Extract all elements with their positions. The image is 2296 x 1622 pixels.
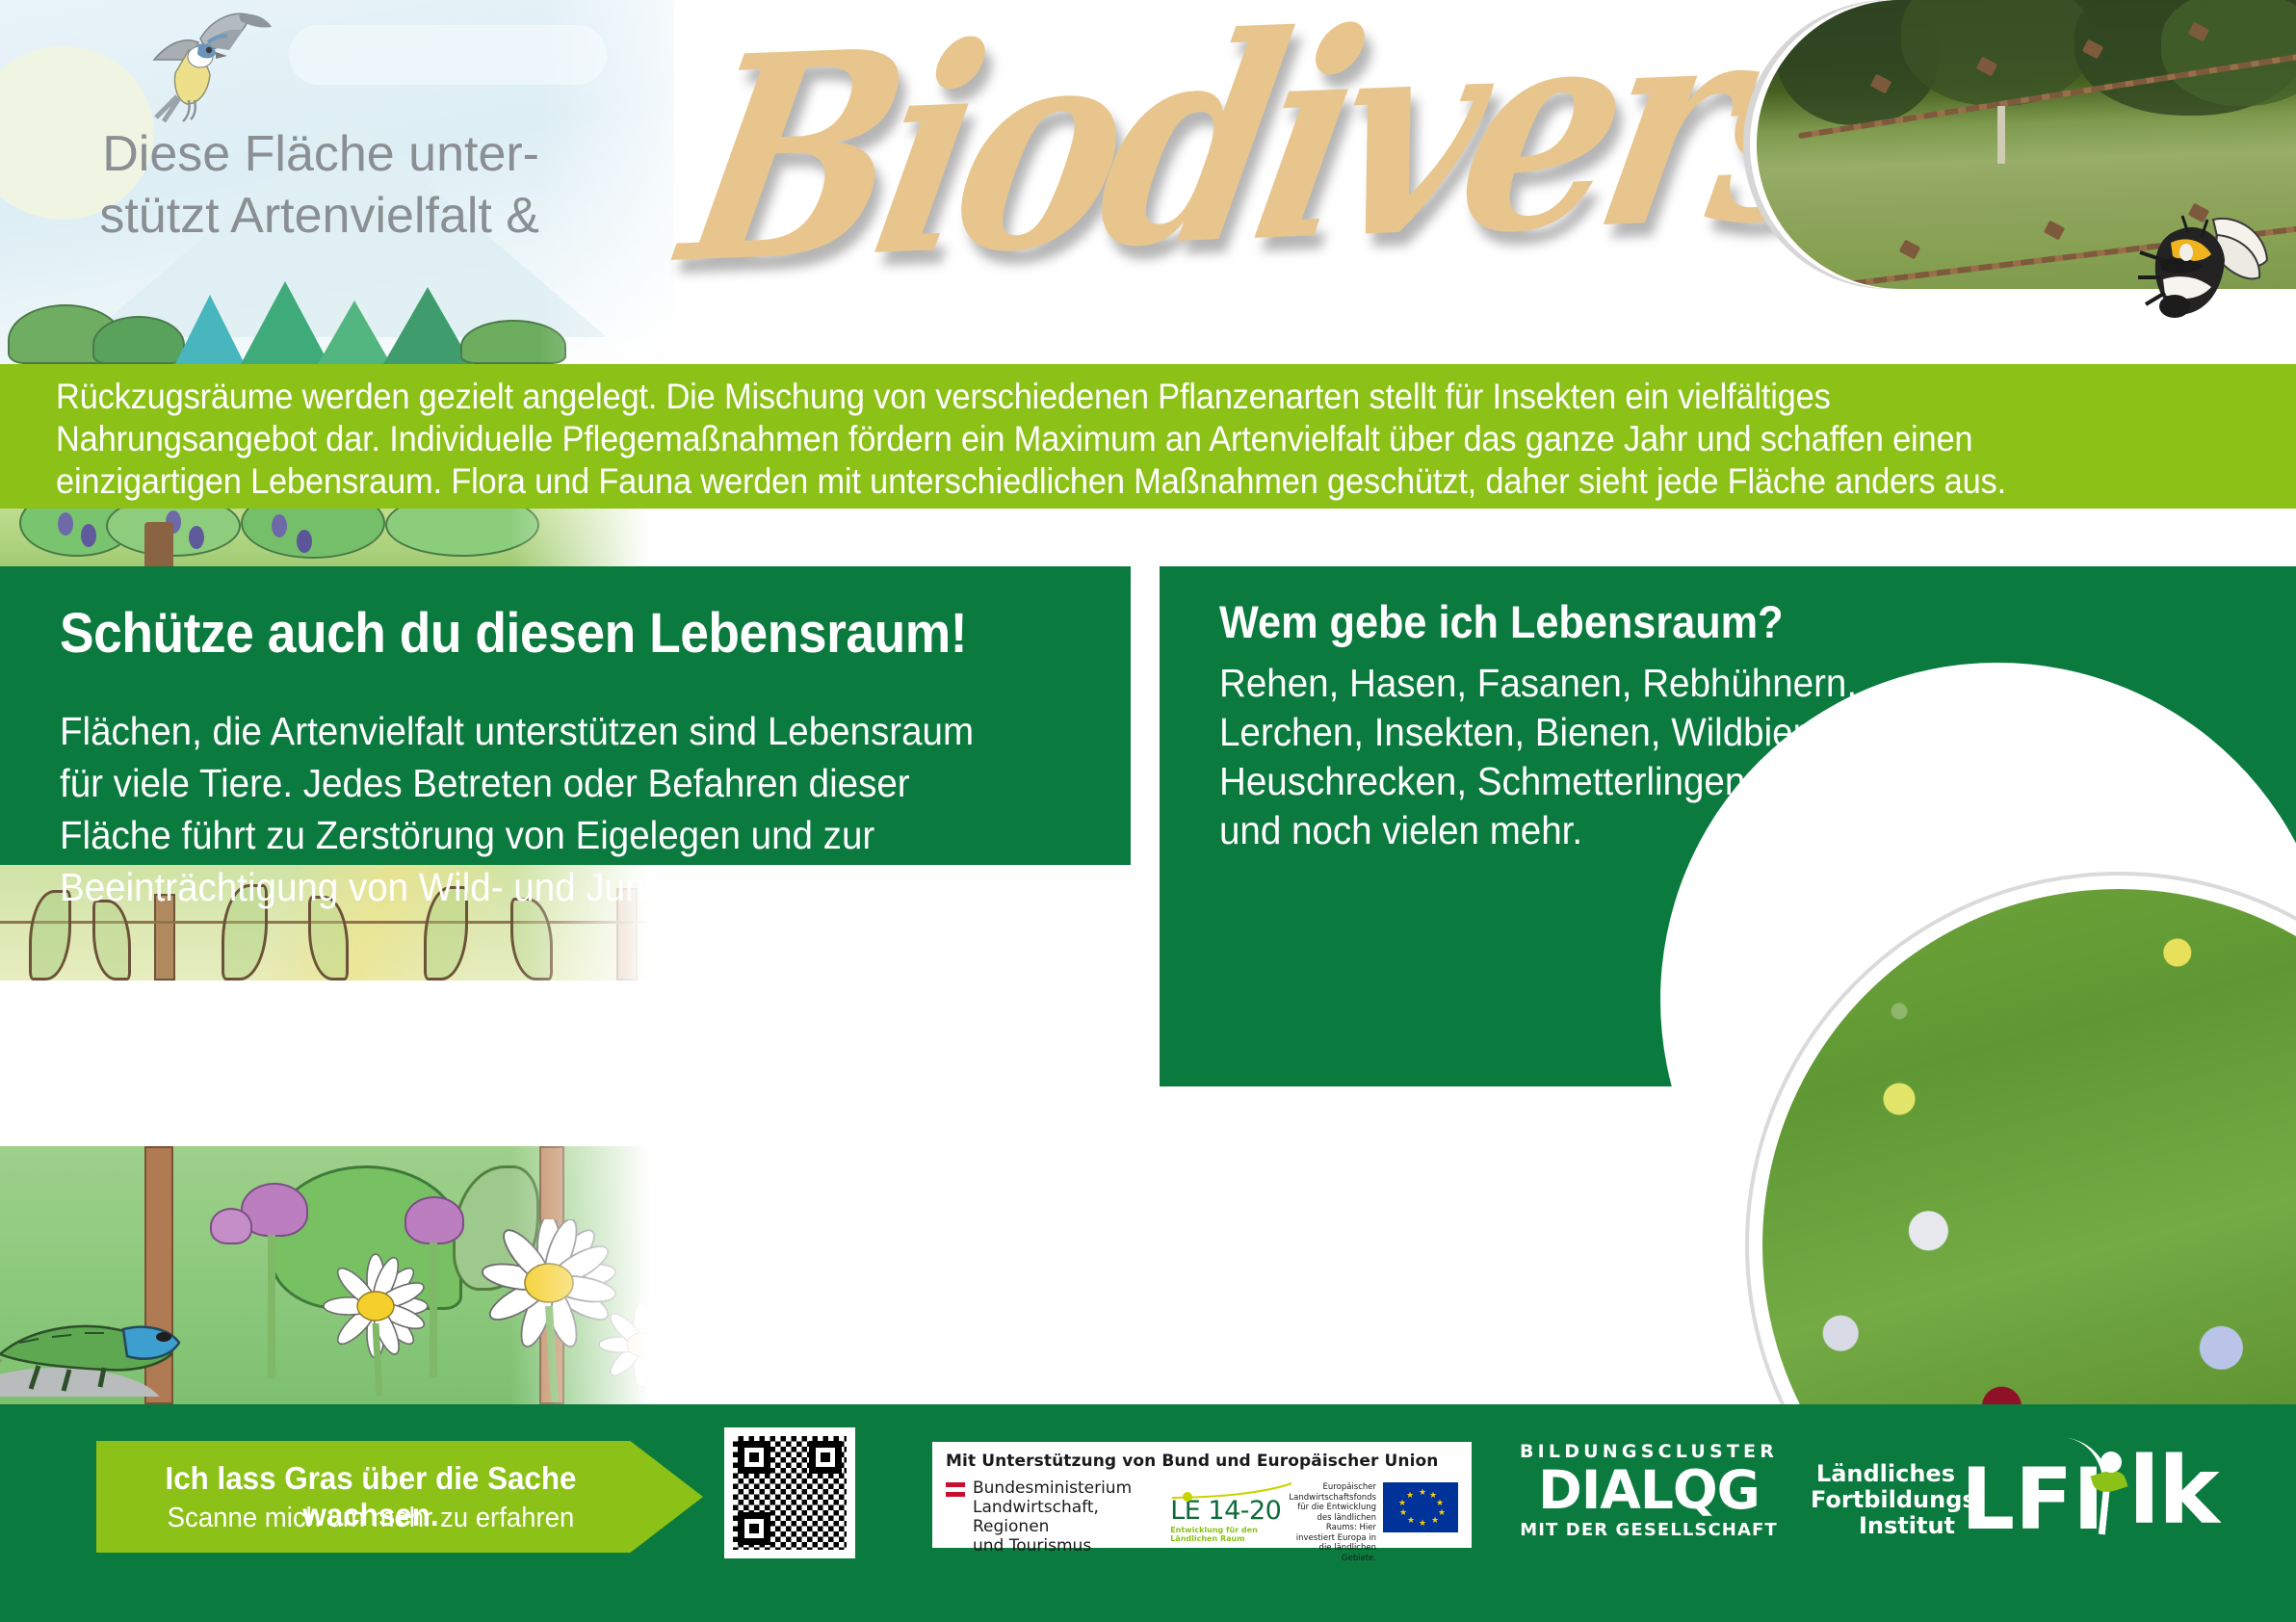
conifer-shape bbox=[383, 287, 472, 364]
tagline: Diese Fläche unter- stützt Artenvielfalt… bbox=[87, 123, 539, 247]
leaf-cluster bbox=[241, 509, 385, 559]
lizard-meadow-illustration bbox=[0, 1146, 674, 1404]
poster-header: Diese Fläche unter- stützt Artenvielfalt… bbox=[0, 0, 2296, 364]
funding-row: Bundesministerium Landwirtschaft, Region… bbox=[946, 1478, 1458, 1563]
lfi-dot-icon bbox=[2100, 1452, 2122, 1473]
berry bbox=[272, 514, 287, 537]
conifer-shape bbox=[175, 295, 245, 364]
austria-flag-icon bbox=[946, 1482, 965, 1497]
bumblebee-icon bbox=[2130, 210, 2275, 345]
bush-shape bbox=[92, 316, 185, 364]
panel-left-body: Flächen, die Artenvielfalt unterstützen … bbox=[60, 705, 1019, 913]
european-union-flag-icon: ★ ★ ★ ★ ★ ★ ★ ★ ★ ★ bbox=[1383, 1482, 1458, 1532]
qr-code[interactable] bbox=[724, 1427, 855, 1558]
le-14-20-logo: LE 14-20 Entwicklung für den Ländlichen … bbox=[1170, 1478, 1281, 1543]
lizard-icon bbox=[0, 1262, 222, 1397]
dead-sapling-shape bbox=[1997, 106, 2005, 164]
qr-callout-banner: Ich lass Gras über die Sache wachsen. Sc… bbox=[96, 1441, 703, 1553]
callout-line-2: Scanne mich um mehr zu erfahren bbox=[110, 1503, 632, 1534]
ministry-line-2: Landwirtschaft, Regionen bbox=[973, 1498, 1157, 1536]
illustration-fade bbox=[510, 1146, 674, 1404]
panel-protect-habitat: Schütze auch du diesen Lebensraum! Fläch… bbox=[0, 566, 1131, 865]
dialog-cluster-logo: BILDUNGSCLUSTER DIALQG MIT DER GESELLSCH… bbox=[1504, 1441, 1793, 1540]
poster-title-wrap: Biodiversität bbox=[674, 0, 1849, 364]
berry bbox=[81, 524, 96, 547]
qr-eye-top-left bbox=[738, 1441, 770, 1474]
dialog-line-3: MIT DER GESELLSCHAFT bbox=[1504, 1520, 1793, 1540]
berry bbox=[297, 530, 312, 553]
sky-illustration: Diese Fläche unter- stützt Artenvielfalt… bbox=[0, 0, 674, 364]
biodiversity-poster: Diese Fläche unter- stützt Artenvielfalt… bbox=[0, 0, 2296, 1622]
panel-left-heading: Schütze auch du diesen Lebensraum! bbox=[60, 601, 967, 666]
berry bbox=[58, 512, 73, 536]
clover-flower bbox=[210, 1208, 252, 1244]
funding-logos-box: Mit Unterstützung von Bund und Europäisc… bbox=[932, 1442, 1472, 1548]
lk-logo: lk bbox=[2128, 1445, 2218, 1537]
funding-title: Mit Unterstützung von Bund und Europäisc… bbox=[946, 1452, 1458, 1471]
le-subtitle: Entwicklung für den Ländlichen Raum bbox=[1170, 1526, 1281, 1543]
intro-band-text: Rückzugsräume werden gezielt angelegt. D… bbox=[56, 376, 2098, 503]
ministry-line-1: Bundesministerium bbox=[973, 1478, 1157, 1498]
ministry-line-3: und Tourismus bbox=[973, 1536, 1157, 1556]
tagline-line-2: stützt Artenvielfalt & bbox=[87, 185, 539, 247]
lfi-logo: Ländliches Fortbildungs Institut LFI bbox=[1811, 1437, 2090, 1562]
lfi-wordmark: Ländliches Fortbildungs Institut bbox=[1811, 1461, 1955, 1539]
tagline-line-1: Diese Fläche unter- bbox=[87, 123, 539, 185]
stem bbox=[268, 1235, 275, 1379]
ministry-name: Bundesministerium Landwirtschaft, Region… bbox=[973, 1478, 1157, 1556]
berry bbox=[189, 526, 204, 549]
qr-eye-bottom-left bbox=[738, 1512, 770, 1545]
blue-tit-bird-icon bbox=[116, 4, 299, 129]
qr-eye-top-right bbox=[809, 1441, 842, 1474]
swoosh-icon bbox=[1170, 1482, 1293, 1504]
eu-fund-note: Europäischer Landwirtschaftsfonds für di… bbox=[1289, 1482, 1376, 1563]
dialog-wordmark: DIALQG bbox=[1504, 1462, 1793, 1518]
intro-band: Rückzugsräume werden gezielt angelegt. D… bbox=[0, 364, 2296, 509]
clover-flower bbox=[404, 1196, 464, 1244]
conifer-shape bbox=[241, 281, 329, 364]
panel-right-heading: Wem gebe ich Lebensraum? bbox=[1219, 595, 1783, 648]
daisy-icon bbox=[308, 1252, 462, 1397]
lfi-mark: LFI bbox=[1961, 1457, 2104, 1542]
conifer-shape bbox=[318, 301, 391, 364]
